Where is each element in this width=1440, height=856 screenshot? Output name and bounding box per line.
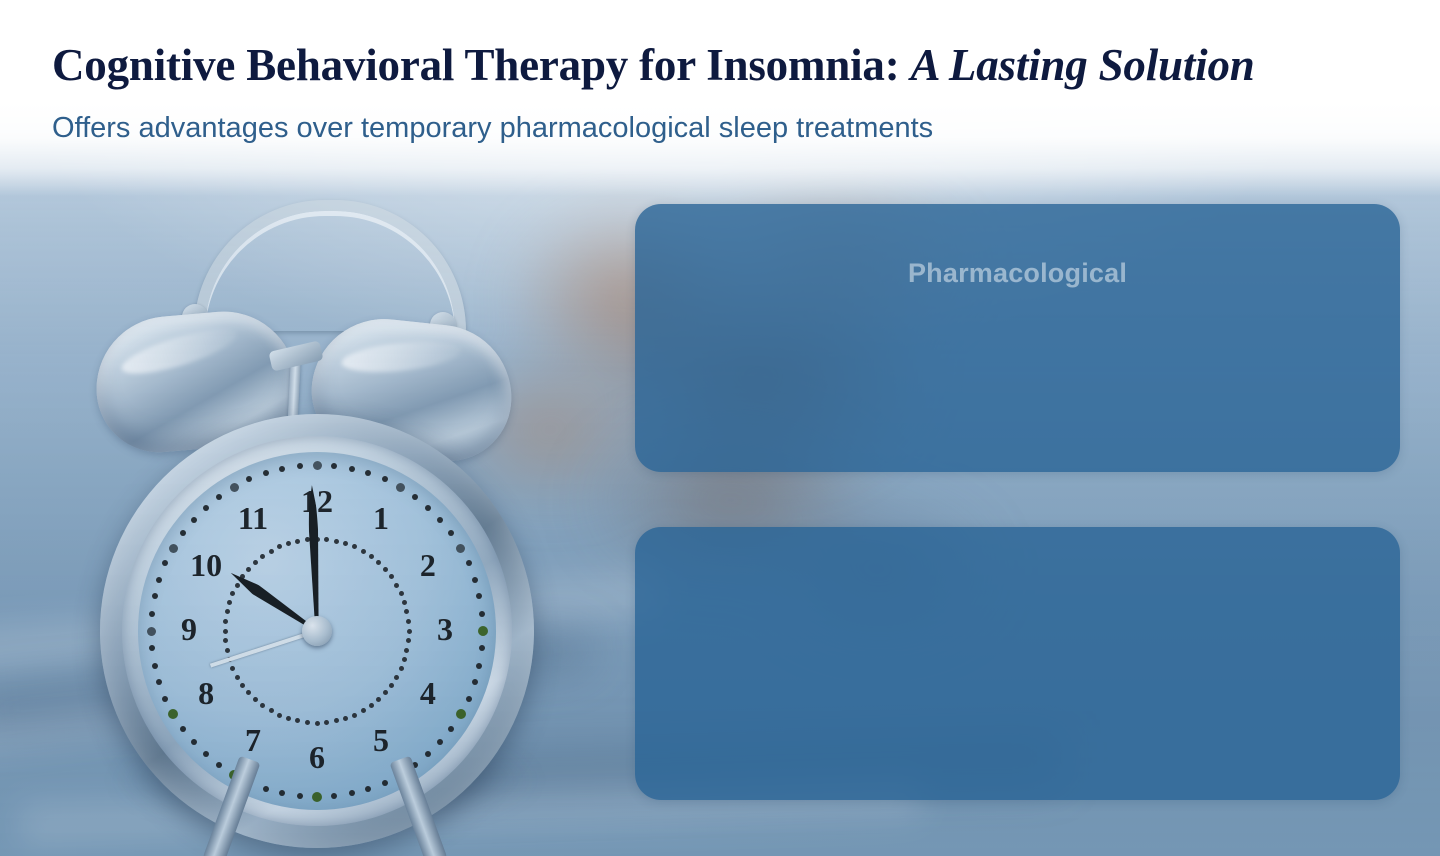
page-title-main: Cognitive Behavioral Therapy for Insomni… <box>52 40 911 90</box>
page-title-emphasis: A Lasting Solution <box>911 40 1255 90</box>
comparison-card-pharmacological[interactable]: Pharmacological <box>635 204 1400 472</box>
slide-canvas: 111098765432112 Cognitive Behavioral The… <box>0 0 1440 856</box>
comparison-card-secondary[interactable] <box>635 527 1400 800</box>
page-subtitle: Offers advantages over temporary pharmac… <box>52 112 933 145</box>
page-title: Cognitive Behavioral Therapy for Insomni… <box>52 42 1255 90</box>
card-label: Pharmacological <box>908 258 1127 289</box>
header-band: Cognitive Behavioral Therapy for Insomni… <box>0 0 1440 196</box>
